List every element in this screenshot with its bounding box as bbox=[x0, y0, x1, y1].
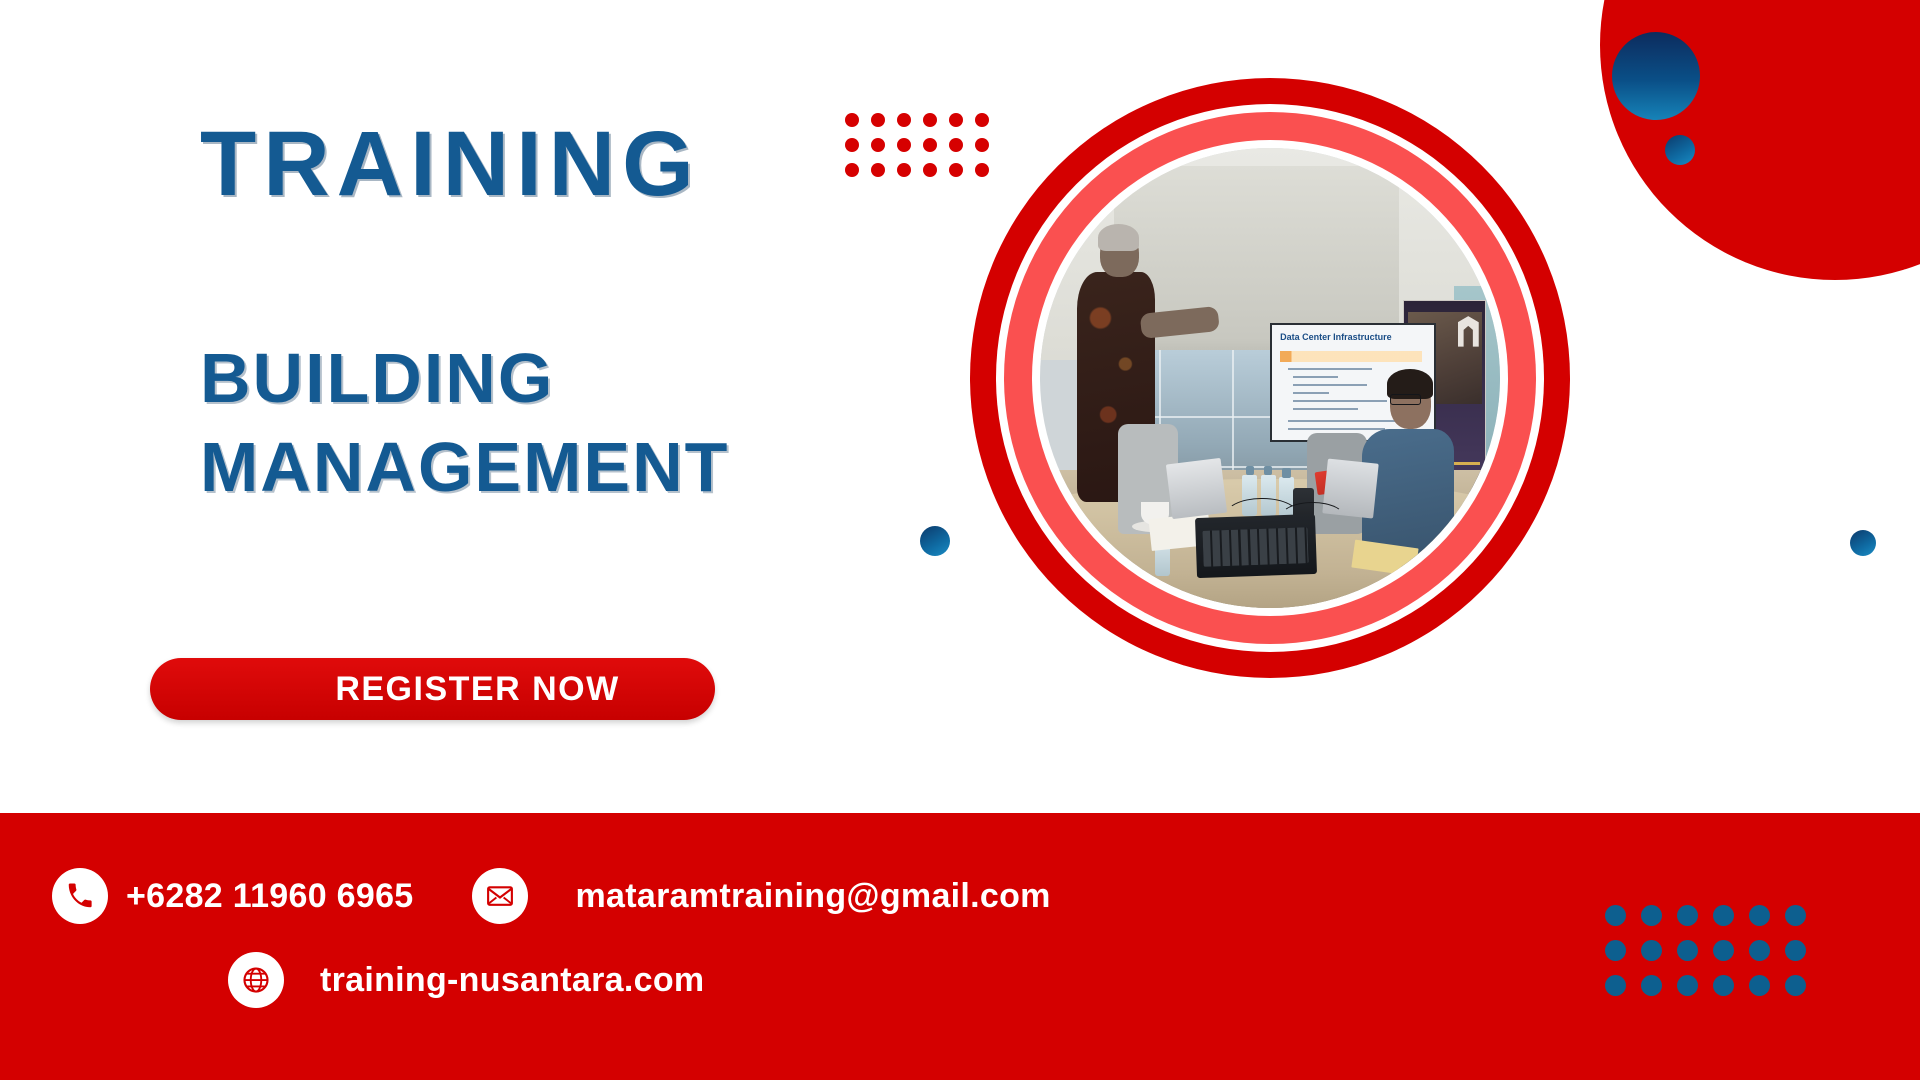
blue-orb-large-icon bbox=[1612, 32, 1700, 120]
globe-icon[interactable] bbox=[228, 952, 284, 1008]
photo-slide-line bbox=[1293, 376, 1338, 378]
dot bbox=[975, 138, 989, 152]
subtitle-block: BUILDING MANAGEMENT bbox=[200, 334, 960, 513]
phone-icon[interactable] bbox=[52, 868, 108, 924]
dot bbox=[1785, 975, 1806, 996]
dot bbox=[975, 113, 989, 127]
photo-bottle-cap bbox=[1282, 468, 1290, 478]
dot bbox=[1785, 940, 1806, 961]
photo-presenter-hair bbox=[1098, 224, 1139, 252]
photo-slide-line bbox=[1288, 368, 1372, 370]
photo-slide-highlight bbox=[1280, 351, 1422, 361]
phone-number[interactable]: +6282 11960 6965 bbox=[126, 877, 414, 916]
photo-medallion: Data Center Infrastructure bbox=[970, 78, 1570, 678]
email-address[interactable]: mataramtraining@gmail.com bbox=[576, 877, 1051, 916]
blue-orb-small-icon bbox=[1665, 135, 1695, 165]
contact-row-primary: +6282 11960 6965 mataramtraining@gmail.c… bbox=[52, 868, 1051, 924]
subtitle-line-1: BUILDING bbox=[200, 334, 960, 424]
photo-slide-line bbox=[1293, 408, 1358, 410]
photo-bottle-cap bbox=[1246, 466, 1254, 476]
blue-orb-right-icon bbox=[1850, 530, 1876, 556]
headline-block: TRAINING BUILDING MANAGEMENT bbox=[200, 118, 960, 513]
photo-slide-line bbox=[1288, 428, 1385, 430]
dot bbox=[1677, 975, 1698, 996]
dot bbox=[1785, 905, 1806, 926]
dot bbox=[1749, 905, 1770, 926]
photo-slide-line bbox=[1293, 400, 1387, 402]
register-now-button[interactable]: REGISTER NOW bbox=[150, 658, 715, 720]
promo-poster: TRAINING BUILDING MANAGEMENT REGISTER NO… bbox=[0, 0, 1920, 1080]
dot bbox=[1677, 940, 1698, 961]
contact-row-website: training-nusantara.com bbox=[228, 952, 704, 1008]
dot bbox=[1605, 905, 1626, 926]
dot bbox=[975, 163, 989, 177]
page-title: TRAINING bbox=[200, 118, 960, 212]
photo-slide-line bbox=[1293, 392, 1329, 394]
dot bbox=[1713, 975, 1734, 996]
envelope-icon[interactable] bbox=[472, 868, 528, 924]
photo-bottle-cap bbox=[1264, 466, 1272, 476]
photo-slide-title: Data Center Infrastructure bbox=[1280, 332, 1392, 342]
blue-dot-grid bbox=[1605, 905, 1806, 996]
dot bbox=[1677, 905, 1698, 926]
blue-orb-left-icon bbox=[920, 526, 950, 556]
dot bbox=[1605, 975, 1626, 996]
photo-laptop-left bbox=[1166, 458, 1228, 520]
dot bbox=[1749, 975, 1770, 996]
subtitle-line-2: MANAGEMENT bbox=[200, 423, 960, 513]
dot bbox=[1749, 940, 1770, 961]
website-url[interactable]: training-nusantara.com bbox=[320, 961, 704, 1000]
photo-cable bbox=[1279, 502, 1345, 536]
dot bbox=[1605, 940, 1626, 961]
dot bbox=[1641, 905, 1662, 926]
dot bbox=[1641, 940, 1662, 961]
photo-participant-glasses bbox=[1390, 394, 1422, 405]
dot bbox=[1641, 975, 1662, 996]
photo-scene: Data Center Infrastructure bbox=[1040, 148, 1500, 608]
training-photo: Data Center Infrastructure bbox=[1040, 148, 1500, 608]
dot bbox=[1713, 905, 1734, 926]
photo-slide-line bbox=[1293, 384, 1367, 386]
dot bbox=[1713, 940, 1734, 961]
